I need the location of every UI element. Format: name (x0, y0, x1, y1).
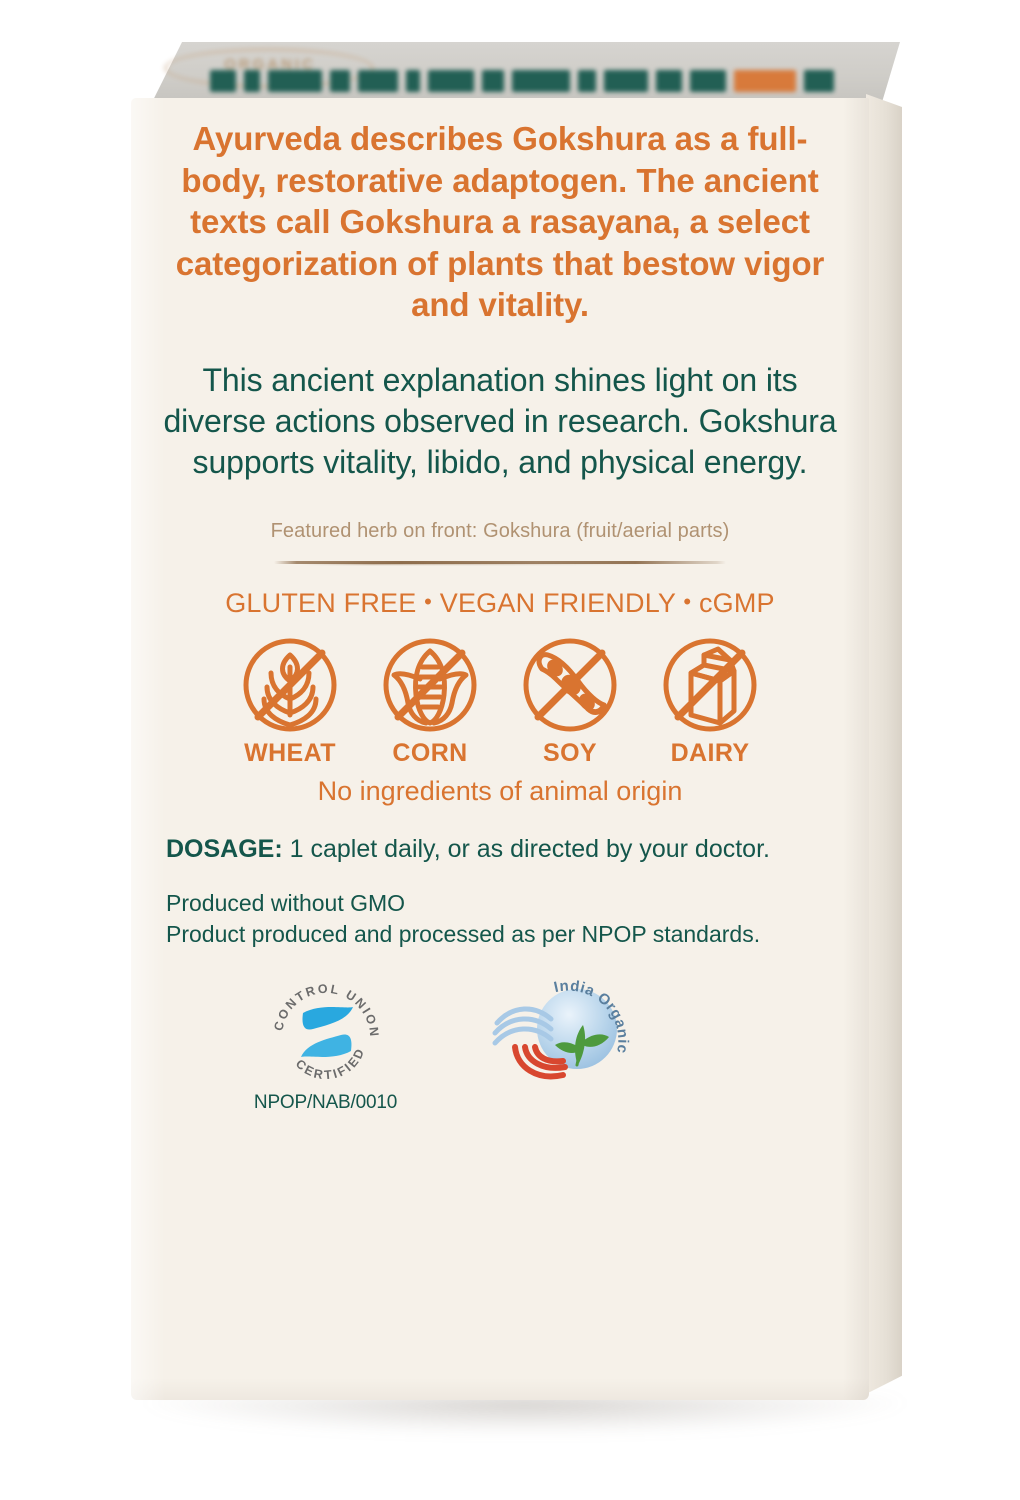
allergen-corn-label: CORN (376, 739, 484, 768)
allergen-wheat-label: WHEAT (236, 739, 344, 768)
box-front-face: Ayurveda describes Gokshura as a full-bo… (131, 98, 869, 1400)
product-box-scene: ORGANIC Ayurveda describes Gokshura as a… (0, 0, 1020, 1500)
allergen-dairy-label: DAIRY (656, 739, 764, 768)
claims-line: GLUTEN FREE • VEGAN FRIENDLY • cGMP (161, 588, 839, 619)
box-drop-shadow (145, 1395, 905, 1435)
brush-divider (274, 559, 726, 566)
top-face-brand-lockup: ORGANIC (150, 46, 870, 102)
allergen-soy: SOY (516, 633, 624, 768)
dosage-text: 1 caplet daily, or as directed by your d… (283, 835, 770, 863)
allergen-soy-label: SOY (516, 739, 624, 768)
allergen-icon-row: WHEAT (161, 633, 839, 768)
claims-separator-2: • (683, 589, 691, 614)
claim-vegan-friendly: VEGAN FRIENDLY (440, 588, 676, 618)
certification-logos: CONTROL UNION CERTIFIED NPOP/NAB/0010 (161, 977, 839, 1127)
featured-herb-note: Featured herb on front: Gokshura (fruit/… (161, 520, 839, 543)
no-wheat-icon (238, 633, 342, 737)
control-union-code: NPOP/NAB/0010 (243, 1092, 408, 1114)
subcopy-paragraph: This ancient explanation shines light on… (161, 360, 839, 484)
no-animal-origin-note: No ingredients of animal origin (161, 776, 839, 807)
india-organic-certification: India Organic (491, 971, 666, 1100)
allergen-corn: CORN (376, 633, 484, 768)
claim-cgmp: cGMP (699, 588, 775, 618)
allergen-wheat: WHEAT (236, 633, 344, 768)
claims-separator-1: • (424, 589, 432, 614)
headline-paragraph: Ayurveda describes Gokshura as a full-bo… (161, 118, 839, 326)
fineprint-npop: Product produced and processed as per NP… (166, 919, 839, 950)
dosage-label: DOSAGE: (166, 835, 283, 863)
box-side-panel (866, 94, 902, 1394)
allergen-dairy: DAIRY (656, 633, 764, 768)
no-corn-icon (378, 633, 482, 737)
no-soy-icon (518, 633, 622, 737)
control-union-certification: CONTROL UNION CERTIFIED NPOP/NAB/0010 (243, 977, 408, 1114)
no-dairy-icon (658, 633, 762, 737)
claim-gluten-free: GLUTEN FREE (225, 588, 416, 618)
india-organic-logo-icon: India Organic (491, 971, 659, 1095)
control-union-logo-icon: CONTROL UNION CERTIFIED (267, 977, 385, 1089)
panel-content: Ayurveda describes Gokshura as a full-bo… (131, 98, 869, 1400)
brush-stroke-accent (301, 563, 663, 565)
dosage-instructions: DOSAGE: 1 caplet daily, or as directed b… (161, 833, 839, 867)
brand-wordmark-blurred (210, 68, 850, 94)
fineprint-gmo: Produced without GMO (166, 888, 839, 919)
fineprint-block: Produced without GMO Product produced an… (161, 888, 839, 951)
